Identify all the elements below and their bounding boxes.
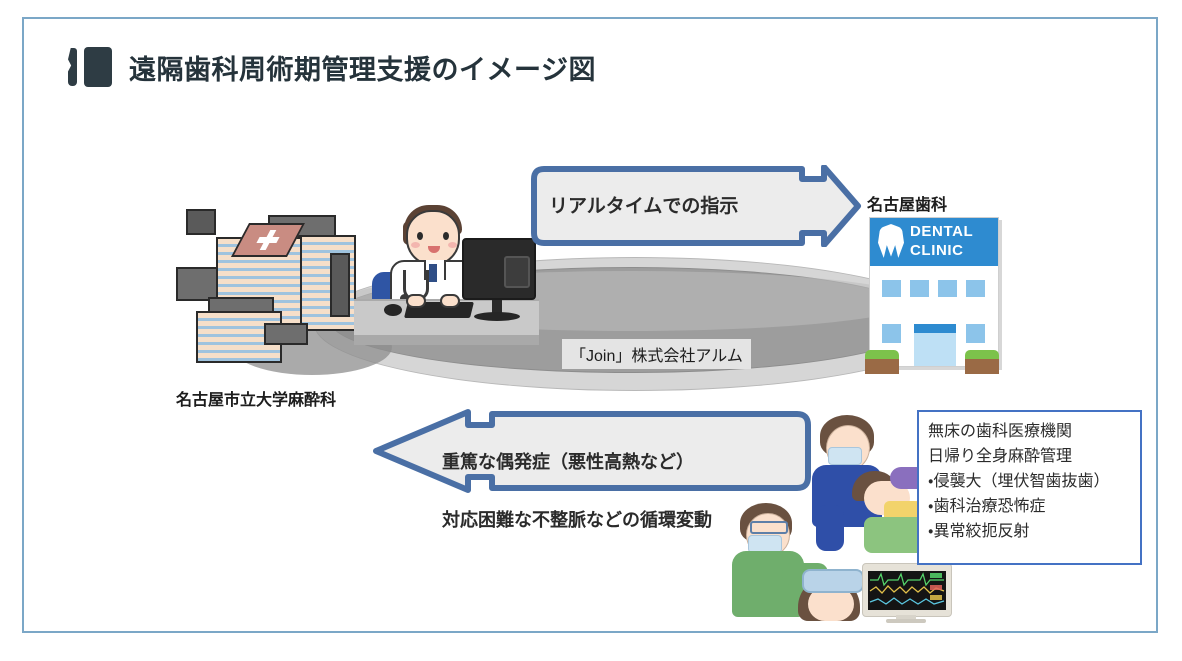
bookmark-bars-icon <box>68 47 112 87</box>
patient-monitor-icon <box>862 563 950 623</box>
clinic-sign-line1: DENTAL <box>910 222 973 241</box>
info-line-2: 日帰り全身麻酔管理 <box>928 444 1131 469</box>
info-line-4: ・歯科治療恐怖症 <box>928 494 1131 519</box>
hospital-label: 名古屋市立大学麻酔科 <box>176 386 336 410</box>
network-service-label: 「Join」株式会社アルム <box>562 339 751 369</box>
info-line-1: 無床の歯科医療機関 <box>928 419 1131 444</box>
slide-title-row: 遠隔歯科周術期管理支援のイメージ図 <box>68 41 596 93</box>
tooth-icon <box>878 224 904 258</box>
arrow-complication-line1: 重篤な偶発症（悪性高熱など） <box>442 448 712 477</box>
page-title: 遠隔歯科周術期管理支援のイメージ図 <box>129 48 596 87</box>
arrow-realtime-label: リアルタイムでの指示 <box>549 191 738 218</box>
slide-canvas: 遠隔歯科周術期管理支援のイメージ図 「Join」株式会社アルム 名古屋市立大学麻… <box>22 17 1158 633</box>
hospital-building-icon <box>172 201 377 381</box>
doctor-at-computer-icon <box>354 194 539 344</box>
dental-clinic-building-icon: DENTAL CLINIC <box>869 217 1003 377</box>
arrow-complication-line2: 対応困難な不整脈などの循環変動 <box>442 506 712 535</box>
info-line-5: ・異常絞扼反射 <box>928 519 1131 544</box>
clinic-conditions-box: 無床の歯科医療機関 日帰り全身麻酔管理 ・侵襲大（埋伏智歯抜歯） ・歯科治療恐怖… <box>917 410 1142 565</box>
info-line-3: ・侵襲大（埋伏智歯抜歯） <box>928 469 1131 494</box>
clinic-label: 名古屋歯科 <box>867 191 947 215</box>
clinic-sign-line2: CLINIC <box>910 241 973 260</box>
